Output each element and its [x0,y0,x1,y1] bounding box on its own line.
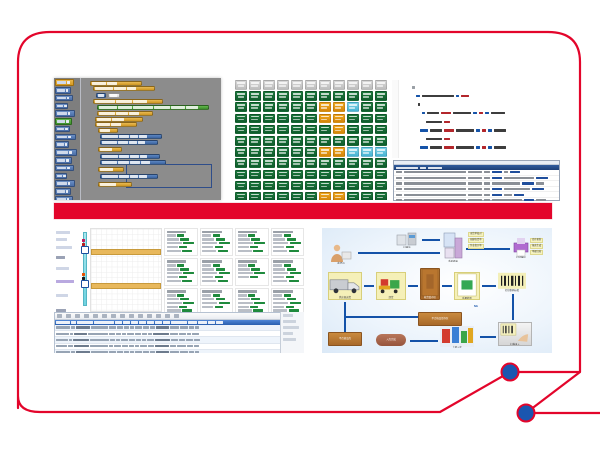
status-cell-r8-c2[interactable] [263,170,275,180]
schedule-widget-2[interactable] [56,246,72,249]
status-cell-r2-c3[interactable] [277,102,289,112]
palette-block-11[interactable] [55,165,74,172]
code-block-17[interactable] [98,182,132,187]
detail-card-title [238,231,258,233]
status-cell-r1-c5[interactable] [305,91,317,101]
data-grid-toolbar[interactable] [55,313,303,320]
column-header-0[interactable] [56,321,70,323]
code-block-4[interactable] [93,99,163,104]
status-cell-r9-c4[interactable] [291,181,303,191]
status-cell-r4-c3[interactable] [277,125,289,135]
detail-card-1[interactable] [200,228,234,256]
detail-card-value [290,242,301,244]
toolbar-button-0[interactable] [57,314,62,318]
code-block-15[interactable] [98,167,124,172]
status-cell-r3-c1[interactable] [249,114,261,124]
data-grid-side-panel[interactable] [280,312,304,353]
column-header-1[interactable] [71,321,76,323]
flow-node-nonconforming-store[interactable]: 不合格品库 [328,332,362,346]
column-header-7[interactable] [139,321,146,323]
code-token [473,112,477,114]
code-block-13[interactable] [100,154,160,159]
status-cell-r0-c3[interactable] [277,80,289,90]
status-cell-r3-c3[interactable] [277,114,289,124]
detail-card-4[interactable] [164,258,198,286]
table-cell [127,333,134,335]
log-cell [484,182,490,184]
flow-node-scan-entry[interactable]: 扫描录入 [498,322,532,346]
code-token [491,112,505,114]
toolbar-button-2[interactable] [75,314,80,318]
flow-node-nonconforming-area[interactable]: 不合格品暂存区 [418,312,462,326]
toolbar-button-9[interactable] [138,314,143,318]
output-log-window[interactable] [393,160,560,201]
status-cell-r2-c10[interactable] [375,102,387,112]
status-cell-r1-c7[interactable] [333,91,345,101]
status-cell-r8-c0[interactable] [235,170,247,180]
palette-block-label [57,198,66,200]
table-cell [71,351,75,353]
palette-block-7[interactable] [55,134,76,141]
status-cell-r2-c6[interactable] [319,102,331,112]
status-cell-r7-c8[interactable] [347,158,359,168]
table-cell [109,351,116,353]
code-block-token [118,141,128,144]
code-line-3 [422,112,505,115]
status-cell-r9-c1[interactable] [249,181,261,191]
gantt-chart-grid[interactable] [90,228,162,312]
status-cell-r3-c10[interactable] [375,114,387,124]
toolbar-button-11[interactable] [156,314,161,318]
detail-card-0[interactable] [164,228,198,256]
palette-block-4[interactable] [55,110,75,117]
status-cell-r3-c8[interactable] [347,114,359,124]
status-cell-r8-c5[interactable] [305,170,317,180]
source-code-and-log-console[interactable] [392,80,560,201]
detail-card-key [238,302,253,304]
code-block-5[interactable] [97,105,209,110]
detail-card-row [167,298,196,300]
status-cell-r9-c5[interactable] [305,181,317,191]
schedule-widget-1[interactable] [56,238,67,241]
status-cell-r2-c8[interactable] [347,102,359,112]
status-cell-r4-c8[interactable] [347,125,359,135]
toolbar-button-6[interactable] [111,314,116,318]
detail-card-row [167,264,196,266]
status-cell-r8-c6[interactable] [319,170,331,180]
data-grid[interactable] [54,312,304,353]
status-cell-r1-c9[interactable] [361,91,373,101]
status-cell-r3-c9[interactable] [361,114,373,124]
status-cell-r0-c8[interactable] [347,80,359,90]
status-cell-r1-c2[interactable] [263,91,275,101]
detail-card-value [287,298,296,300]
data-grid-body[interactable] [55,325,303,353]
status-cell-r6-c1[interactable] [249,147,261,157]
palette-block-2[interactable] [55,95,73,102]
flow-node-barcode-label[interactable]: 打印条码标签 [498,272,526,292]
status-cell-r4-c7[interactable] [333,125,345,135]
status-cell-r3-c6[interactable] [319,114,331,124]
code-block-token [133,106,153,109]
column-header-3[interactable] [94,321,114,323]
status-cell-r0-c7[interactable] [333,80,345,90]
red-divider-bar [54,203,552,219]
status-cell-r9-c10[interactable] [375,181,387,191]
status-cell-r5-c1[interactable] [249,136,261,146]
status-cell-r3-c4[interactable] [291,114,303,124]
table-row[interactable] [55,350,303,353]
column-header-8[interactable] [147,321,154,323]
code-block-token [138,141,145,144]
status-cell-r9-c8[interactable] [347,181,359,191]
detail-card-title [167,290,187,292]
status-cell-r5-c4[interactable] [291,136,303,146]
column-header-5[interactable] [123,321,130,323]
code-block-16[interactable] [100,174,158,179]
toolbar-button-12[interactable] [165,314,170,318]
detail-card-3[interactable] [271,228,305,256]
status-cell-r1-c6[interactable] [319,91,331,101]
status-cell-r1-c0[interactable] [235,91,247,101]
log-header-label [420,167,426,169]
flow-node-receiving-area[interactable]: 收货暂存区 [420,268,440,300]
table-cell [155,345,169,347]
log-cell [404,182,466,184]
status-cell-r9-c2[interactable] [263,181,275,191]
status-cell-r10-c0[interactable] [235,192,247,200]
column-header-10[interactable] [163,321,170,323]
code-block-11[interactable] [100,140,158,145]
palette-block-12[interactable] [55,173,67,180]
status-cell-r5-c10[interactable] [375,136,387,146]
status-cell-r10-c7[interactable] [333,192,345,200]
status-cell-r10-c3[interactable] [277,192,289,200]
palette-block-label [57,143,64,146]
status-cell-r4-c10[interactable] [375,125,387,135]
code-token [456,129,474,131]
status-cell-r10-c8[interactable] [347,192,359,200]
status-cell-r6-c2[interactable] [263,147,275,157]
status-cell-r9-c9[interactable] [361,181,373,191]
status-cell-r2-c4[interactable] [291,102,303,112]
schedule-widget-0[interactable] [56,231,70,234]
status-cell-r7-c7[interactable] [333,158,345,168]
status-cell-r10-c9[interactable] [361,192,373,200]
warehouse-inbound-flowchart[interactable]: 扫描站收货员系统终端打印输出供应商送货卸货收货暂存区质量检验打印条码标签不合格品… [322,228,552,353]
status-cell-r4-c6[interactable] [319,125,331,135]
status-cell-r4-c2[interactable] [263,125,275,135]
status-cell-r0-c4[interactable] [291,80,303,90]
detail-card-value [179,306,187,308]
status-cell-r10-c5[interactable] [305,192,317,200]
schedule-widget-3[interactable] [56,256,65,259]
status-cell-r7-c9[interactable] [361,158,373,168]
status-cell-r8-c10[interactable] [375,170,387,180]
status-cell-r0-c2[interactable] [263,80,275,90]
status-cell-r5-c3[interactable] [277,136,289,146]
table-cell [179,339,185,341]
status-cell-r6-c3[interactable] [277,147,289,157]
status-cell-r6-c4[interactable] [291,147,303,157]
status-cell-r5-c6[interactable] [319,136,331,146]
status-cell-r5-c2[interactable] [263,136,275,146]
status-cell-r8-c7[interactable] [333,170,345,180]
status-cell-r6-c7[interactable] [333,147,345,157]
flow-node-scanner-station[interactable]: 扫描站 [394,232,420,248]
status-cell-r7-c2[interactable] [263,158,275,168]
status-cell-r8-c4[interactable] [291,170,303,180]
log-row-list[interactable] [394,170,559,201]
status-cell-r4-c5[interactable] [305,125,317,135]
toolbar-button-7[interactable] [120,314,125,318]
toolbar-button-8[interactable] [129,314,134,318]
palette-block-0[interactable] [55,79,74,86]
code-block-2[interactable] [96,93,106,98]
side-panel-item-4[interactable] [283,338,296,341]
palette-block-8[interactable] [55,141,69,148]
code-block-9[interactable] [98,128,118,133]
detail-card-value [248,294,255,296]
code-block-10[interactable] [100,134,162,139]
detail-card-key [273,298,285,300]
log-cell [510,171,520,173]
status-cell-r8-c1[interactable] [249,170,261,180]
detail-card-7[interactable] [271,258,305,286]
status-cell-r3-c7[interactable] [333,114,345,124]
flow-node-operator[interactable]: 收货员 [328,244,354,264]
table-cell [136,339,141,341]
column-header-14[interactable] [208,321,215,323]
status-cell-r4-c1[interactable] [249,125,261,135]
log-cell [492,188,502,190]
status-cell-r0-c1[interactable] [249,80,261,90]
status-cell-r1-c10[interactable] [375,91,387,101]
table-cell [56,339,68,341]
palette-block-10[interactable] [55,157,72,164]
flow-node-supplier-truck[interactable]: 供应商送货 [328,272,362,300]
block-workspace[interactable] [84,78,221,200]
flow-node-printer-output[interactable]: 打印输出 [512,238,530,258]
status-cell-matrix[interactable] [235,80,387,200]
detail-card-2[interactable] [235,228,269,256]
status-cell-r9-c0[interactable] [235,181,247,191]
table-cell [147,339,154,341]
column-header-12[interactable] [188,321,197,323]
column-header-11[interactable] [171,321,187,323]
detail-card-value [253,250,263,252]
toolbar-button-4[interactable] [93,314,98,318]
status-cell-r1-c1[interactable] [249,91,261,101]
detail-card-key [273,246,284,248]
palette-block-6[interactable] [55,126,70,133]
status-cell-r4-c4[interactable] [291,125,303,135]
palette-block-15[interactable] [55,196,73,200]
detail-card-value [254,272,265,274]
status-cell-r1-c3[interactable] [277,91,289,101]
flow-tag-order-check: 来货单核对 [468,232,484,237]
code-line-5 [420,129,506,132]
device-status-grid[interactable] [235,80,387,200]
status-cell-r8-c9[interactable] [361,170,373,180]
detail-card-value [182,250,192,252]
status-cell-r2-c1[interactable] [249,102,261,112]
status-cell-r9-c7[interactable] [333,181,345,191]
detail-card-row [273,238,302,240]
side-panel-item-1[interactable] [283,320,296,323]
detail-card-6[interactable] [235,258,269,286]
table-cell [189,326,194,328]
code-token [476,129,480,131]
palette-block-5[interactable] [55,118,72,125]
code-block-8[interactable] [95,122,137,127]
status-cell-r0-c5[interactable] [305,80,317,90]
detail-card-value [218,280,228,282]
status-cell-r1-c8[interactable] [347,91,359,101]
status-cell-r6-c5[interactable] [305,147,317,157]
status-cell-r9-c6[interactable] [319,181,331,191]
flow-node-putaway[interactable]: 上架入库 [440,326,474,348]
table-cell [171,339,178,341]
table-cell [56,345,67,347]
side-panel-item-0[interactable] [283,314,293,317]
status-cell-r1-c4[interactable] [291,91,303,101]
status-cell-r5-c0[interactable] [235,136,247,146]
detail-card-5[interactable] [200,258,234,286]
status-cell-r2-c9[interactable] [361,102,373,112]
flow-arrow-3 [364,285,374,287]
status-cell-r5-c8[interactable] [347,136,359,146]
toolbar-button-5[interactable] [102,314,107,318]
status-cell-r5-c7[interactable] [333,136,345,146]
flow-node-inbound-complete[interactable]: 入库完成 [376,334,406,346]
palette-block-3[interactable] [55,103,68,110]
code-token [456,95,459,97]
code-block-1[interactable] [93,86,155,91]
block-palette[interactable] [54,78,81,200]
table-cell [70,333,73,335]
status-cell-r0-c10[interactable] [375,80,387,90]
status-cell-r10-c6[interactable] [319,192,331,200]
rail-node-1[interactable] [81,280,89,288]
status-cell-r10-c4[interactable] [291,192,303,200]
status-cell-r6-c6[interactable] [319,147,331,157]
status-cell-r2-c5[interactable] [305,102,317,112]
toolbar-button-1[interactable] [66,314,71,318]
flow-node-label: 上架入库 [452,347,462,348]
status-cell-r3-c5[interactable] [305,114,317,124]
flow-node-unloading[interactable]: 卸货 [376,272,406,300]
status-cell-r7-c5[interactable] [305,158,317,168]
flow-node-system-terminal[interactable]: 系统终端 [442,232,464,262]
status-cell-r6-c8[interactable] [347,147,359,157]
status-cell-r8-c3[interactable] [277,170,289,180]
status-cell-r3-c0[interactable] [235,114,247,124]
palette-block-9[interactable] [55,149,77,156]
column-header-4[interactable] [115,321,122,323]
column-header-13[interactable] [198,321,207,323]
side-panel-item-3[interactable] [283,332,293,335]
status-cell-r2-c7[interactable] [333,102,345,112]
palette-block-14[interactable] [55,188,71,195]
status-cell-r6-c9[interactable] [361,147,373,157]
gantt-bar-0[interactable] [91,249,161,255]
code-block-14[interactable] [100,160,166,165]
status-cell-r7-c1[interactable] [249,158,261,168]
status-cell-r7-c4[interactable] [291,158,303,168]
schedule-widget-4[interactable] [56,267,69,270]
status-cell-r10-c1[interactable] [249,192,261,200]
status-cell-r3-c2[interactable] [263,114,275,124]
detail-card-key [238,250,252,252]
log-cell [504,177,534,179]
column-header-2[interactable] [77,321,93,323]
schedule-widget-6[interactable] [56,294,68,297]
log-row[interactable] [394,198,559,201]
code-block-12[interactable] [98,147,122,152]
visual-block-programming-editor[interactable] [54,78,221,200]
status-cell-r6-c10[interactable] [375,147,387,157]
status-cell-r4-c9[interactable] [361,125,373,135]
gantt-bar-1[interactable] [91,283,161,289]
flow-arrow-11 [344,316,418,318]
status-cell-r4-c0[interactable] [235,125,247,135]
schedule-widget-5[interactable] [56,280,74,283]
status-cell-r6-c0[interactable] [235,147,247,157]
column-header-15[interactable] [216,321,223,323]
scheduling-board-and-data-grid[interactable] [54,228,304,353]
column-header-9[interactable] [155,321,162,323]
status-cell-r7-c3[interactable] [277,158,289,168]
toolbar-button-13[interactable] [174,314,179,318]
palette-block-1[interactable] [55,87,71,94]
column-header-6[interactable] [131,321,138,323]
schedule-side-widgets[interactable] [54,228,80,310]
toolbar-button-3[interactable] [84,314,89,318]
status-cell-r2-c2[interactable] [263,102,275,112]
palette-block-13[interactable] [55,180,75,187]
status-cell-r7-c6[interactable] [319,158,331,168]
schedule-board[interactable] [54,228,304,310]
detail-card-row [273,298,302,300]
status-cell-r10-c2[interactable] [263,192,275,200]
flow-node-label: 入库完成 [386,339,396,341]
detail-card-list[interactable] [164,228,304,310]
status-cell-r2-c0[interactable] [235,102,247,112]
rail-node-0[interactable] [81,246,89,254]
forklift-icon [377,273,405,297]
code-block-3[interactable] [108,93,120,98]
status-cell-r0-c6[interactable] [319,80,331,90]
side-panel-item-2[interactable] [283,326,299,329]
status-cell-r5-c9[interactable] [361,136,373,146]
status-cell-r7-c10[interactable] [375,158,387,168]
palette-block-label [57,128,64,131]
status-cell-r7-c0[interactable] [235,158,247,168]
status-cell-r0-c0[interactable] [235,80,247,90]
status-cell-r0-c9[interactable] [361,80,373,90]
toolbar-button-10[interactable] [147,314,152,318]
detail-card-key [167,306,178,308]
detail-card-row [202,280,231,282]
status-cell-r5-c5[interactable] [305,136,317,146]
status-cell-r9-c3[interactable] [277,181,289,191]
doc-icon [455,272,479,298]
status-cell-r10-c10[interactable] [375,192,387,200]
status-cell-r8-c8[interactable] [347,170,359,180]
flow-node-quality-check[interactable]: 质量检验 [454,272,480,300]
code-block-6[interactable] [97,111,153,116]
